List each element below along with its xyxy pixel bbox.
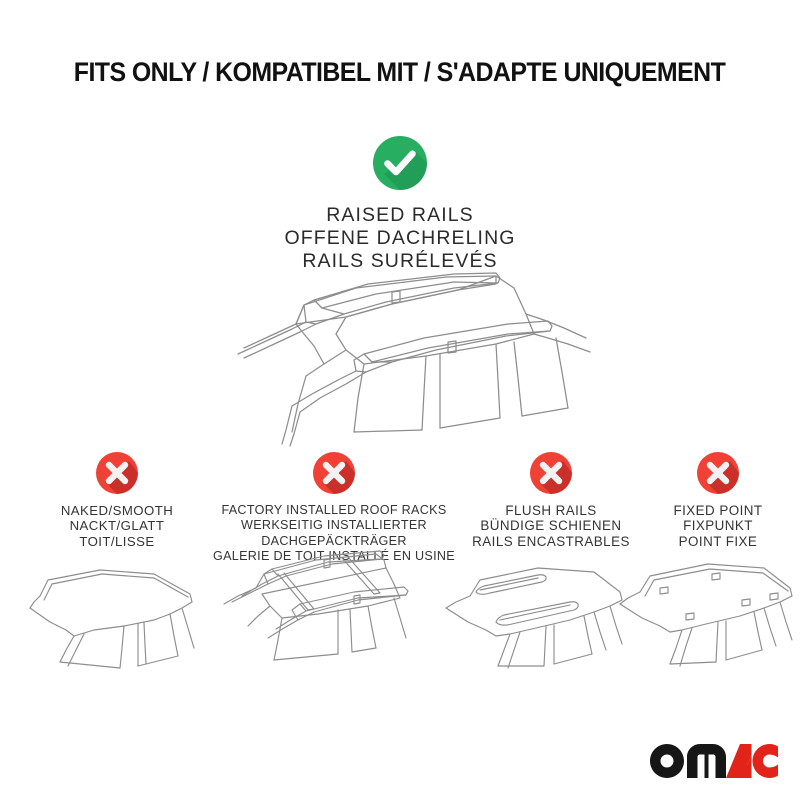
not-compatible-item-fixed-point: FIXED POINT FIXPUNKT POINT FIXE [636, 452, 800, 549]
compatibility-infographic: FITS ONLY / KOMPATIBEL MIT / S'ADAPTE UN… [0, 0, 800, 800]
not-compatible-label-de: NACKT/GLATT [6, 518, 228, 533]
not-compatible-label-de: BÜNDIGE SCHIENEN [452, 518, 650, 533]
not-compatible-label-group: FIXED POINT FIXPUNKT POINT FIXE [636, 503, 800, 549]
not-compatible-label-group: FLUSH RAILS BÜNDIGE SCHIENEN RAILS ENCAS… [452, 503, 650, 549]
not-compatible-item-flush-rails: FLUSH RAILS BÜNDIGE SCHIENEN RAILS ENCAS… [452, 452, 650, 549]
car-roof-factory-racks-illustration [208, 548, 426, 670]
not-compatible-item-naked-smooth: NAKED/SMOOTH NACKT/GLATT TOIT/LISSE [6, 452, 228, 549]
car-roof-flush-rails-illustration [434, 552, 634, 670]
compatible-label-en: RAISED RAILS [0, 204, 800, 227]
compatible-label-fr: RAILS SURÉLEVÉS [0, 250, 800, 273]
not-compatible-label-fr: POINT FIXE [636, 534, 800, 549]
not-compatible-label-en: NAKED/SMOOTH [6, 503, 228, 518]
not-compatible-label-de-1: WERKSEITIG INSTALLIERTER [206, 518, 462, 533]
not-compatible-label-fr: RAILS ENCASTRABLES [452, 534, 650, 549]
not-compatible-label-en: FIXED POINT [636, 503, 800, 518]
not-compatible-label-de: FIXPUNKT [636, 518, 800, 533]
x-circle-icon [697, 452, 739, 494]
x-circle-icon [530, 452, 572, 494]
car-roof-fixed-point-illustration [612, 552, 800, 670]
not-compatible-label-group: NAKED/SMOOTH NACKT/GLATT TOIT/LISSE [6, 503, 228, 549]
page-title: FITS ONLY / KOMPATIBEL MIT / S'ADAPTE UN… [74, 57, 725, 88]
page-header: FITS ONLY / KOMPATIBEL MIT / S'ADAPTE UN… [0, 50, 800, 94]
car-roof-naked-smooth-illustration [4, 550, 204, 670]
compatible-section: RAISED RAILS OFFENE DACHRELING RAILS SUR… [0, 136, 800, 273]
compatible-label-group: RAISED RAILS OFFENE DACHRELING RAILS SUR… [0, 204, 800, 273]
not-compatible-label-en: FACTORY INSTALLED ROOF RACKS [206, 503, 462, 518]
x-circle-icon [96, 452, 138, 494]
check-circle-icon [373, 136, 427, 190]
not-compatible-label-de-2: DACHGEPÄCKTRÄGER [206, 534, 462, 549]
x-circle-icon [313, 452, 355, 494]
omac-logo [650, 744, 778, 778]
car-roof-raised-rails-illustration [196, 272, 608, 447]
compatible-label-de: OFFENE DACHRELING [0, 227, 800, 250]
not-compatible-label-fr: TOIT/LISSE [6, 534, 228, 549]
not-compatible-label-en: FLUSH RAILS [452, 503, 650, 518]
